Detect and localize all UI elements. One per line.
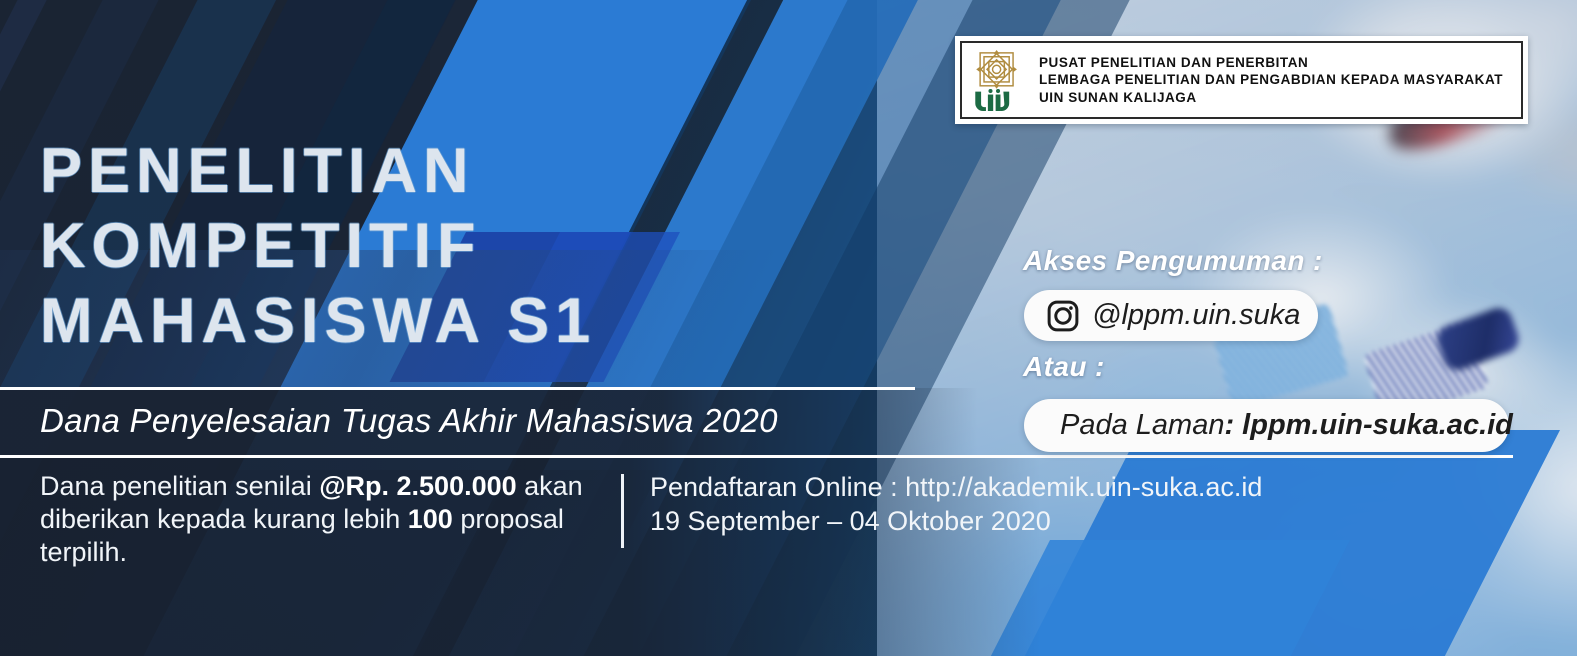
funding-text-before: Dana penelitian senilai [40, 471, 319, 501]
institution-name: PUSAT PENELITIAN DAN PENERBITAN LEMBAGA … [1039, 54, 1503, 107]
promotional-banner: PENELITIAN KOMPETITIF MAHASISWA S1 Dana … [0, 0, 1577, 656]
announcement-label: Akses Pengumuman : [1023, 245, 1323, 277]
uin-sunan-kalijaga-logo-icon [972, 49, 1027, 111]
divider-footer-columns [621, 474, 624, 548]
website-url: : lppm.uin-suka.ac.id [1224, 409, 1512, 442]
registration-date-line: 19 September – 04 Oktober 2020 [650, 504, 1350, 538]
funding-proposal-count: 100 [408, 504, 453, 534]
institution-logo-inner: PUSAT PENELITIAN DAN PENERBITAN LEMBAGA … [960, 41, 1523, 119]
institution-line-1: PUSAT PENELITIAN DAN PENERBITAN [1039, 54, 1503, 72]
divider-below-subtitle [0, 455, 1513, 458]
instagram-handle: @lppm.uin.suka [1092, 299, 1300, 332]
website-pill[interactable]: Pada Laman : lppm.uin-suka.ac.id [1024, 399, 1509, 452]
instagram-pill[interactable]: @lppm.uin.suka [1024, 290, 1318, 341]
funding-amount: @Rp. 2.500.000 [319, 471, 516, 501]
funding-info: Dana penelitian senilai @Rp. 2.500.000 a… [40, 470, 600, 569]
institution-logo-box: PUSAT PENELITIAN DAN PENERBITAN LEMBAGA … [955, 36, 1528, 124]
institution-line-3: UIN SUNAN KALIJAGA [1039, 89, 1503, 107]
institution-line-2: LEMBAGA PENELITIAN DAN PENGABDIAN KEPADA… [1039, 71, 1503, 89]
page-title: PENELITIAN KOMPETITIF MAHASISWA S1 [40, 134, 596, 359]
instagram-icon [1046, 299, 1080, 333]
website-prefix: Pada Laman [1060, 409, 1224, 442]
registration-info: Pendaftaran Online : http://akademik.uin… [650, 470, 1350, 538]
alternative-label: Atau : [1023, 351, 1105, 383]
divider-above-subtitle [0, 387, 915, 390]
registration-url-line[interactable]: Pendaftaran Online : http://akademik.uin… [650, 470, 1350, 504]
page-subtitle: Dana Penyelesaian Tugas Akhir Mahasiswa … [40, 398, 778, 444]
